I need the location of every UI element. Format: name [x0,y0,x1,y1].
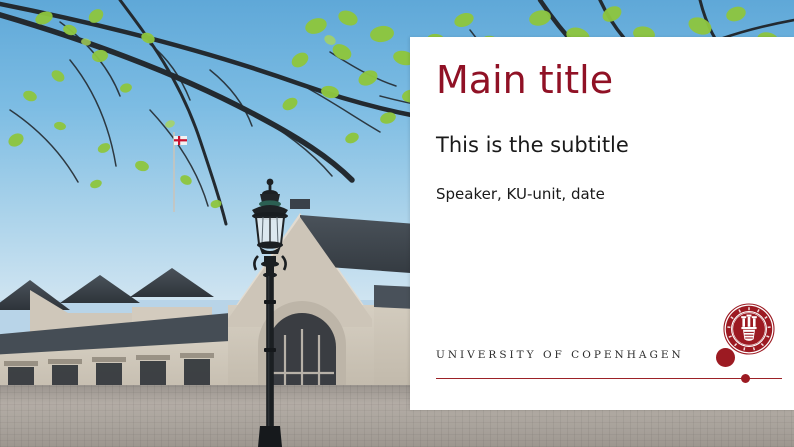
lamp-post [248,176,292,447]
university-wordmark: UNIVERSITY OF COPENHAGEN [436,349,684,361]
footer-divider-rule [436,378,782,379]
ku-seal-icon [723,303,775,355]
lamp-svg [248,176,292,447]
slide-canvas: Main title This is the subtitle Speaker,… [0,0,794,447]
speaker-line: Speaker, KU-unit, date [436,185,605,203]
page-title: Main title [436,61,613,101]
subtitle: This is the subtitle [436,133,629,157]
flagpole [168,132,192,212]
ku-seal-svg [723,303,775,355]
content-panel: Main title This is the subtitle Speaker,… [410,37,794,410]
rule-accent-dot [741,374,750,383]
flag-svg [168,132,192,212]
